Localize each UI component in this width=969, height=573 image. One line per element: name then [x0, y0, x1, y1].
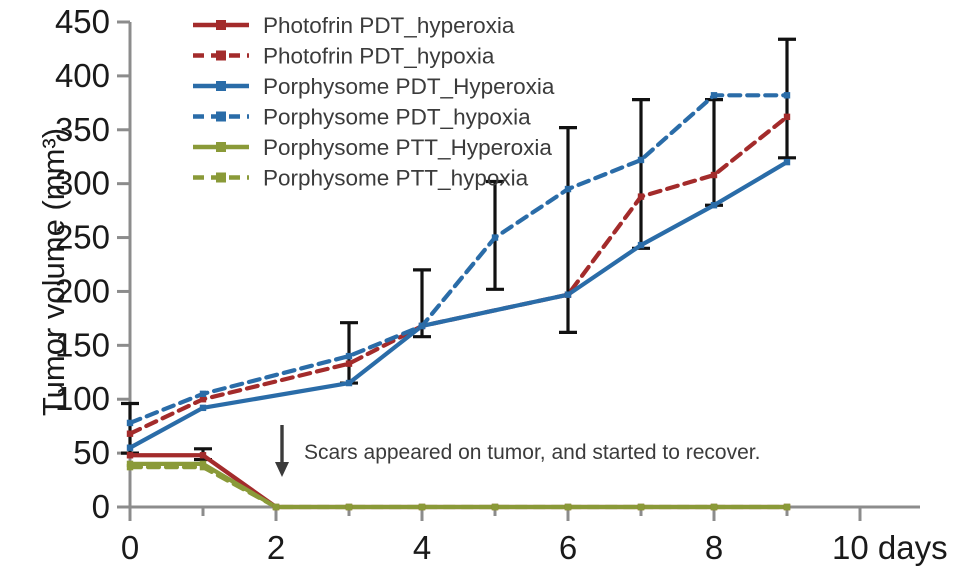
data-point — [638, 157, 644, 163]
y-tick-label: 250 — [55, 219, 110, 256]
legend-label-4: Porphysome PTT_Hyperoxia — [263, 135, 552, 160]
y-tick-label: 450 — [55, 3, 110, 40]
data-point — [638, 242, 644, 248]
legend: Photofrin PDT_hyperoxiaPhotofrin PDT_hyp… — [193, 13, 555, 191]
legend-label-0: Photofrin PDT_hyperoxia — [263, 13, 515, 38]
x-tick-label: 8 — [705, 529, 723, 566]
data-point — [346, 353, 352, 359]
y-tick-label: 400 — [55, 57, 110, 94]
legend-marker-3 — [216, 112, 226, 122]
chart-figure: Tumor volume (mm³) Photofrin PDT_hyperox… — [0, 0, 969, 573]
data-point — [127, 431, 133, 437]
data-point — [346, 360, 352, 366]
data-point — [711, 92, 717, 98]
data-point — [127, 464, 133, 470]
data-point — [346, 504, 352, 510]
data-point — [200, 405, 206, 411]
data-point — [638, 193, 644, 199]
y-tick-label: 0 — [92, 488, 110, 525]
legend-marker-1 — [216, 51, 226, 61]
data-point — [419, 323, 425, 329]
plot-area: Photofrin PDT_hyperoxiaPhotofrin PDT_hyp… — [0, 0, 969, 573]
series-line-1 — [130, 117, 787, 434]
data-point — [638, 504, 644, 510]
data-point — [565, 504, 571, 510]
data-point — [127, 452, 133, 458]
data-point — [565, 186, 571, 192]
data-point — [784, 159, 790, 165]
data-point — [784, 92, 790, 98]
data-point — [492, 504, 498, 510]
down-arrow-icon — [275, 462, 289, 477]
legend-label-5: Porphysome PTT_hypoxia — [263, 166, 529, 191]
data-point — [127, 420, 133, 426]
data-point — [784, 504, 790, 510]
y-tick-label: 150 — [55, 326, 110, 363]
annotation-group: Scars appeared on tumor, and started to … — [275, 425, 760, 477]
y-tick-label: 50 — [73, 434, 110, 471]
y-tick-label: 300 — [55, 165, 110, 202]
legend-marker-4 — [216, 142, 226, 152]
data-point — [346, 380, 352, 386]
data-point — [565, 291, 571, 297]
legend-label-2: Porphysome PDT_Hyperoxia — [263, 74, 555, 99]
series-line-4 — [130, 464, 787, 507]
legend-label-3: Porphysome PDT_hypoxia — [263, 105, 531, 130]
annotation-text: Scars appeared on tumor, and started to … — [304, 441, 760, 464]
y-tick-label: 200 — [55, 272, 110, 309]
data-point — [200, 452, 206, 458]
legend-label-1: Photofrin PDT_hypoxia — [263, 44, 495, 69]
x-tick-label: 0 — [121, 529, 139, 566]
data-point — [200, 391, 206, 397]
legend-marker-2 — [216, 81, 226, 91]
x-tick-labels: 0246810 days — [121, 529, 948, 566]
data-point — [273, 504, 279, 510]
y-tick-label: 100 — [55, 380, 110, 417]
y-tick-labels: 050100150200250300350400450 — [55, 3, 110, 525]
x-tick-label: 2 — [267, 529, 285, 566]
data-point — [419, 504, 425, 510]
x-tick-label: 6 — [559, 529, 577, 566]
data-point — [127, 445, 133, 451]
x-tick-label: 10 days — [832, 529, 948, 566]
legend-marker-0 — [216, 20, 226, 30]
data-point — [711, 202, 717, 208]
series-line-2 — [130, 162, 787, 448]
x-tick-label: 4 — [413, 529, 431, 566]
data-point — [784, 114, 790, 120]
data-point — [711, 172, 717, 178]
y-tick-label: 350 — [55, 111, 110, 148]
data-point — [200, 464, 206, 470]
data-point — [711, 504, 717, 510]
data-point — [492, 234, 498, 240]
legend-marker-5 — [216, 173, 226, 183]
